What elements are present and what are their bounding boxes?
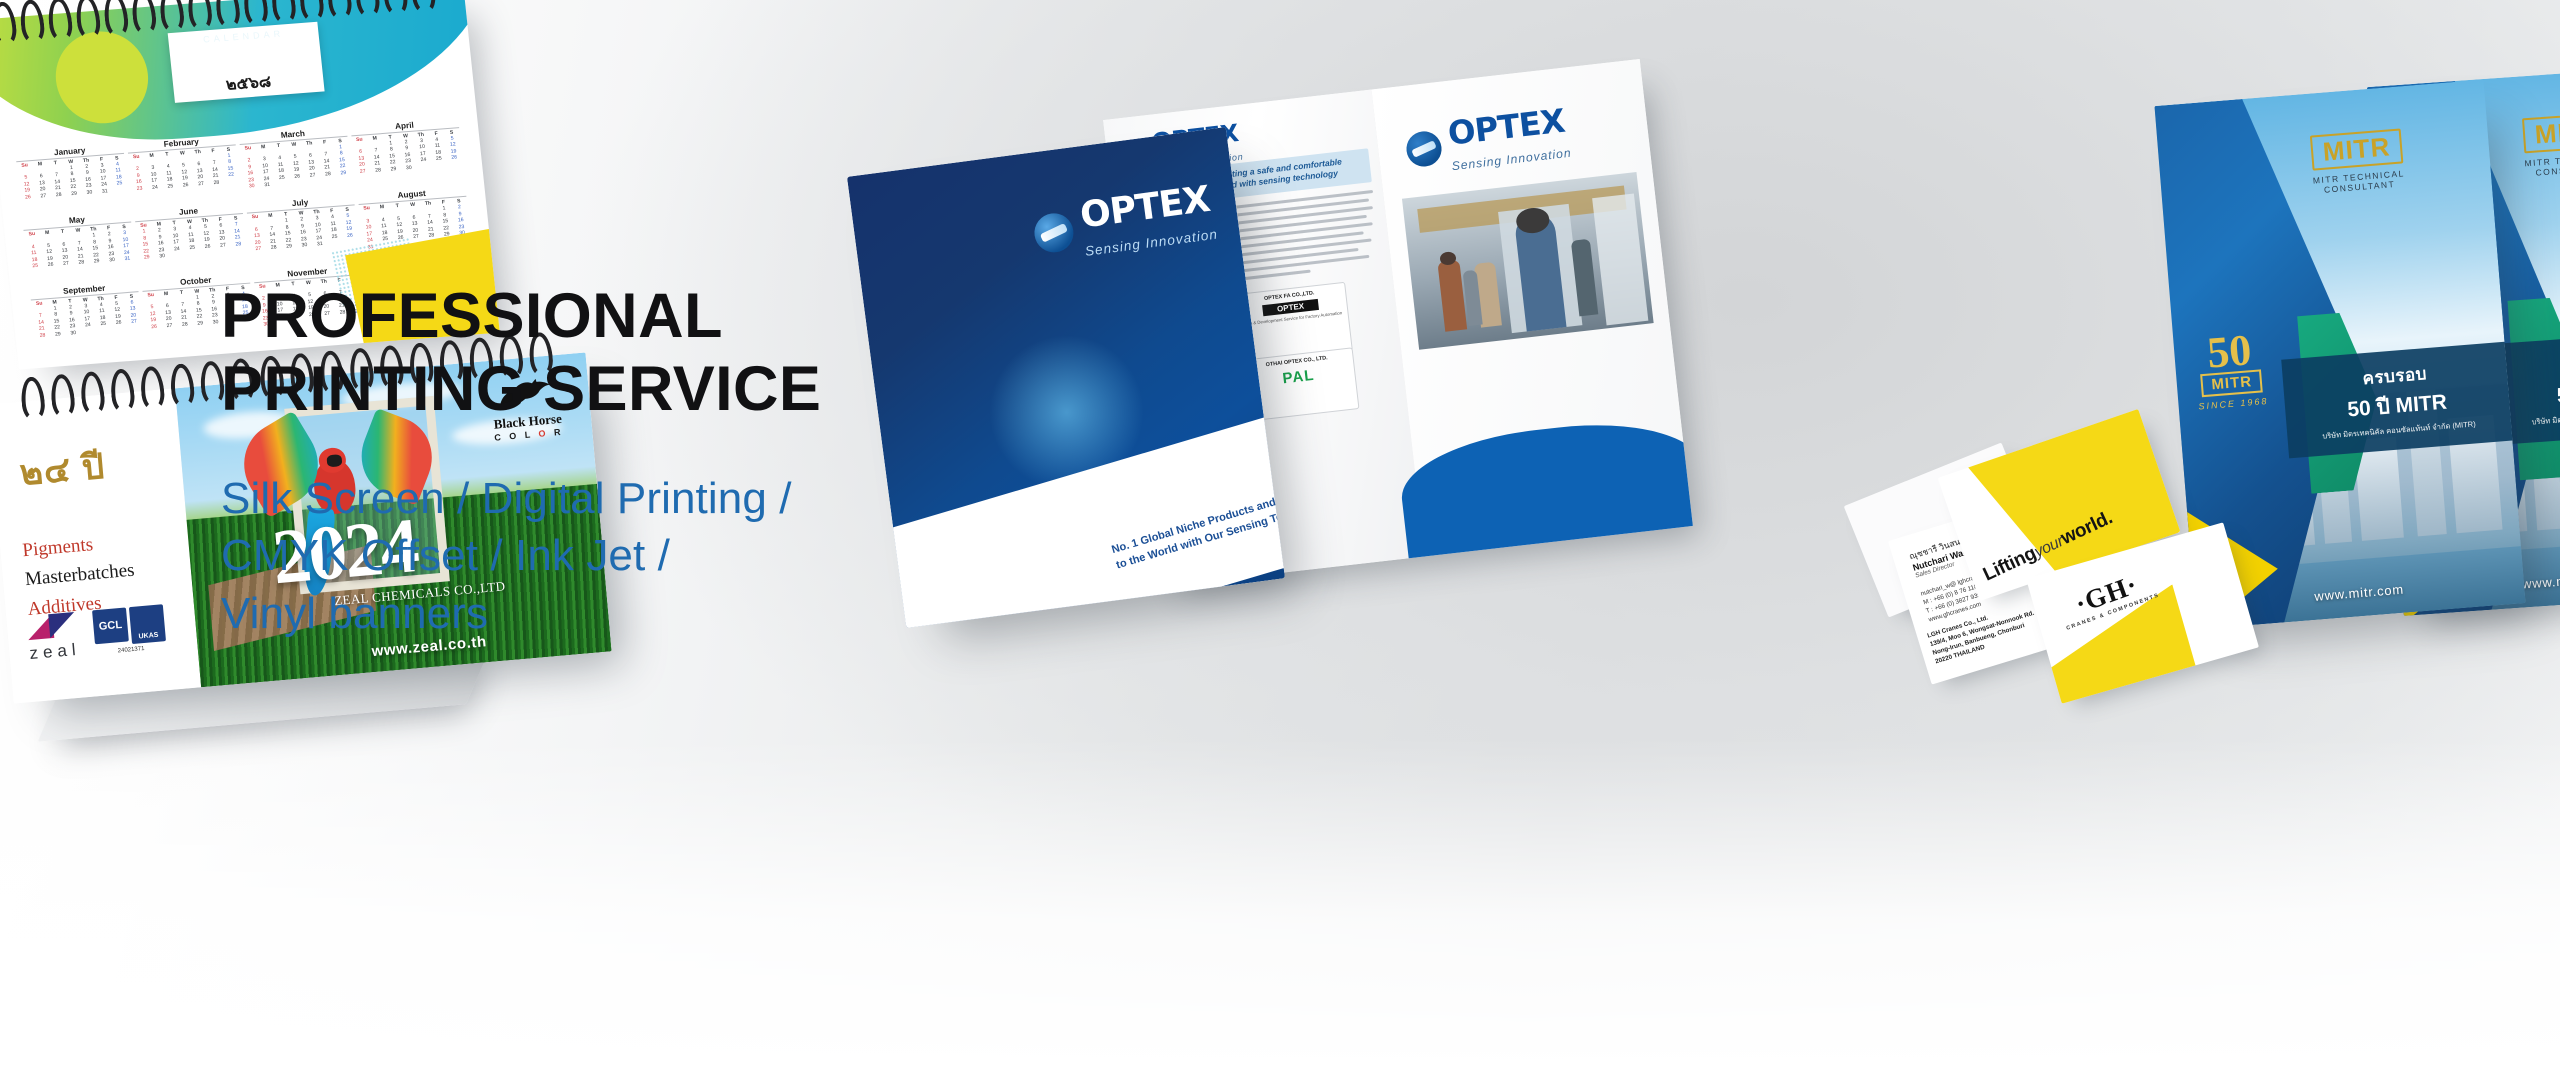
- calendar-2025-month-may: MaySuMTWThFS1234567891011121314151617181…: [23, 212, 137, 285]
- optex-lens-icon: [1405, 130, 1444, 169]
- mitr-50-badge: 50 MITR SINCE 1968: [2193, 329, 2269, 411]
- optex-cover-brochure: OPTEX Sensing Innovation No. 1 Global Ni…: [847, 127, 1285, 628]
- cert-gcl-badge: GCL: [92, 607, 129, 644]
- calendar-2025-title-tab: CALENDAR 2025 ๒๕๖๘: [168, 22, 325, 103]
- mitr-thai-line-2: 50 ปี MITR: [2346, 386, 2448, 427]
- mitr-badge-name: MITR: [2201, 369, 2263, 397]
- calendar-2025-month-january: JanuarySuMTWThFS123456789101112131415161…: [15, 143, 129, 216]
- page-title: PROFESSIONAL PRINTING SERVICE: [221, 280, 821, 426]
- month-days-grid: 1234567891011121314151617181920212223242…: [248, 212, 359, 252]
- optex-cover-background: OPTEX Sensing Innovation No. 1 Global Ni…: [847, 127, 1285, 628]
- optex-entrance-photo: [1402, 172, 1654, 350]
- month-days-grid: 1234567891011121314151617181920212223242…: [240, 143, 352, 190]
- mitr-wordmark: MITR: [2322, 131, 2392, 166]
- month-days-grid: 1234567891011121314151617181920212223242…: [32, 299, 143, 339]
- mitr-logo-box: MITR: [2522, 112, 2560, 153]
- mitr-thai-band: ครบรอบ 50 ปี MITR บริษัท มิตรเทคนิคัล คอ…: [2281, 341, 2513, 458]
- banner-copy-block: PROFESSIONAL PRINTING SERVICE Silk Scree…: [221, 280, 821, 642]
- mitr-thai-line-3: บริษัท มิตรเทคนิคัล คอนซัลแท้นท์ จำกัด (…: [2531, 406, 2560, 429]
- calendar-2025-month-september: SeptemberSuMTWThFS1234567891011121314151…: [30, 281, 144, 354]
- calendar-2025-month-june: JuneSuMTWThFS123456789101112131415161718…: [134, 203, 248, 276]
- optex-wordmark: OPTEX: [1446, 102, 1567, 153]
- mitr-logo-box: MITR: [2310, 128, 2404, 170]
- optex-brochure-right-page: OPTEX Sensing Innovation: [1371, 59, 1692, 557]
- mitr-badge-number: 50: [2193, 329, 2266, 374]
- mitr-logo: MITR MITR TECHNICAL CONSULTANT: [2485, 110, 2560, 181]
- zeal-triangle-icon: [26, 609, 82, 644]
- optex-logo-large: OPTEX Sensing Innovation: [1403, 102, 1573, 182]
- month-days-grid: 1234567891011121314151617181920212223242…: [17, 161, 128, 201]
- cert-ukas-badge: UKAS: [129, 604, 166, 644]
- mitr-subtitle: MITR TECHNICAL CONSULTANT: [2488, 150, 2560, 181]
- zeal-certifications: GCL UKAS 24021371: [92, 604, 167, 656]
- mitr-wordmark: MITR: [2534, 115, 2560, 150]
- optex-wordmark: OPTEX: [1078, 178, 1213, 237]
- mitr-thai-line-2: 50 ปี MITR: [2556, 373, 2560, 413]
- month-days-grid: 1234567891011121314151617181920212223242…: [352, 135, 463, 175]
- calendar-2024-thai-anniversary: ๒๔ ปี: [17, 439, 107, 501]
- calendar-2025-month-february: FebruarySuMTWThFS12345678910111213141516…: [127, 134, 241, 207]
- calendar-2025-month-april: AprilSuMTWThFS12345678910111213141516171…: [350, 117, 464, 190]
- calendar-2025-month-march: MarchSuMTWThFS12345678910111213141516171…: [239, 126, 353, 199]
- month-days-grid: 1234567891011121314151617181920212223242…: [136, 221, 247, 261]
- month-days-grid: 1234567891011121314151617181920212223242…: [25, 230, 136, 270]
- optex-cover-logo: OPTEX Sensing Innovation: [1030, 177, 1219, 269]
- optex-tagline: Sensing Innovation: [1451, 146, 1572, 173]
- zeal-logo: zeal: [26, 609, 84, 664]
- optex-blue-footer-shape: [1396, 412, 1693, 587]
- banner-subheadline: Silk Screen / Digital Printing / CMYK Of…: [221, 470, 821, 642]
- month-days-grid: 1234567891011121314151617181920212223242…: [129, 152, 240, 192]
- optex-lens-icon: [1032, 211, 1076, 255]
- printing-service-banner: PROFESSIONAL PRINTING SERVICE Silk Scree…: [0, 0, 2560, 1068]
- calendar-2024-left-panel: ๒๔ ปี Pigments Masterbatches Additives z…: [0, 388, 202, 703]
